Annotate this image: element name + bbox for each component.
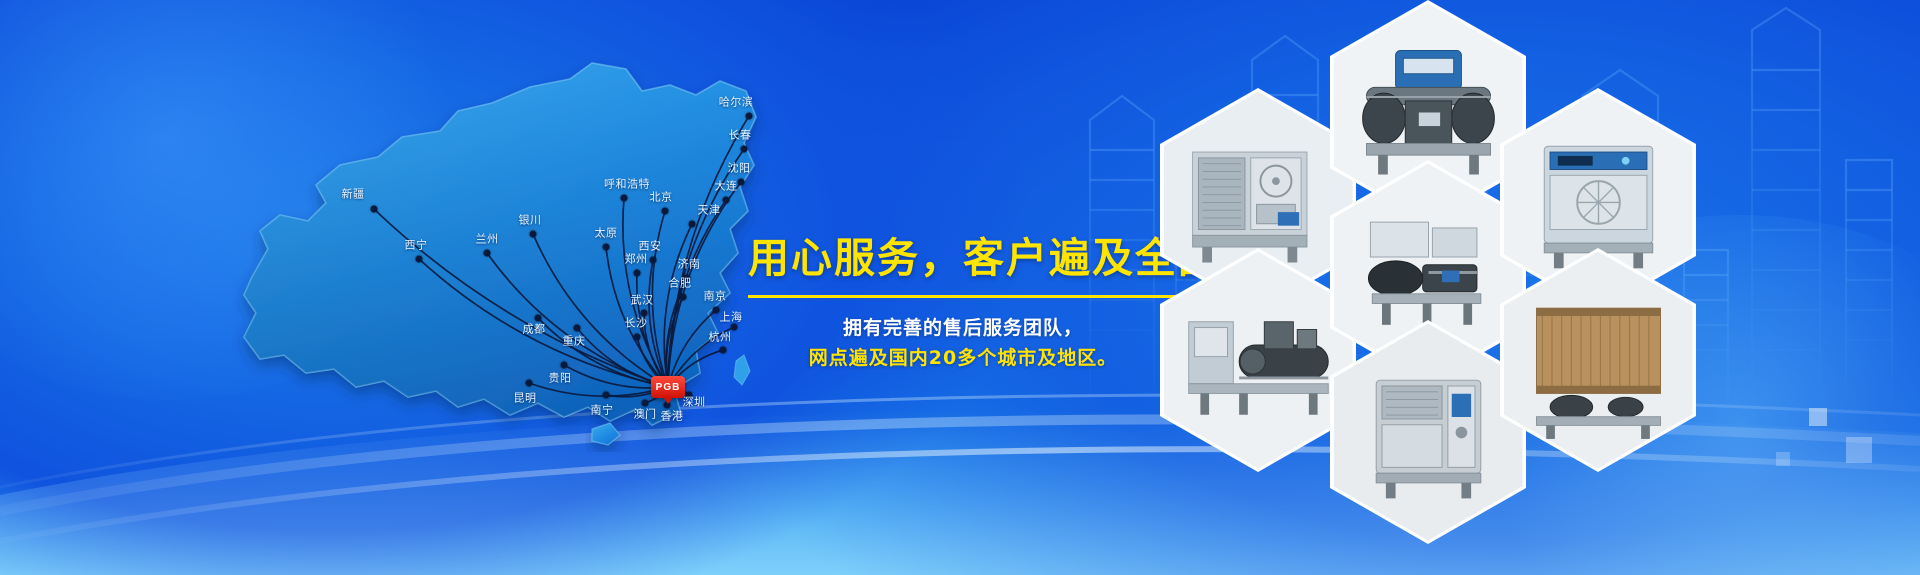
map-city-label: 银川 [519,215,542,226]
map-city-dot[interactable] [642,400,649,407]
china-distribution-map: 新疆哈尔滨长春沈阳呼和浩特北京天津大连银川兰州太原西宁郑州西安济南合肥南京上海武… [140,25,760,455]
map-city-label: 长沙 [625,318,648,329]
map-city-dot[interactable] [371,206,378,213]
map-city-dot[interactable] [720,347,727,354]
decorative-square-2 [1846,437,1872,463]
banner-subtext-line-2: 网点遍及国内20多个城市及地区。 [748,344,1178,373]
map-city-label: 郑州 [625,254,648,265]
map-city-dot[interactable] [634,270,641,277]
map-city-label: 呼和浩特 [604,179,650,190]
map-city-label: 武汉 [631,295,654,306]
map-city-dot[interactable] [650,257,657,264]
banner-text-block: 用心服务，客户遍及全国 拥有完善的售后服务团队， 网点遍及国内20多个城市及地区… [748,236,1178,373]
headline-divider-rule [748,295,1178,298]
map-city-label: 长春 [729,130,752,141]
map-city-label: 澳门 [634,409,657,420]
hub-marker-pgb[interactable]: PGB [651,376,685,398]
product-image-screw-compressor-unit [1164,252,1353,469]
map-city-label: 新疆 [342,189,365,200]
map-city-label: 太原 [595,228,618,239]
map-city-label: 南宁 [591,405,614,416]
product-hexagon-grid [1160,0,1720,545]
map-city-dot[interactable] [621,195,628,202]
map-city-dot[interactable] [535,315,542,322]
map-city-label: 上海 [720,312,743,323]
map-city-dot[interactable] [713,307,720,314]
map-city-label: 北京 [650,192,673,203]
map-city-label: 杭州 [709,332,732,343]
map-city-dot[interactable] [530,231,537,238]
map-city-dot[interactable] [662,208,669,215]
map-city-label: 西安 [639,241,662,252]
decorative-square-1 [1809,408,1827,426]
map-city-label: 沈阳 [728,163,751,174]
map-city-label: 济南 [678,259,701,270]
map-city-label: 天津 [698,205,721,216]
map-city-dot[interactable] [741,146,748,153]
map-city-dot[interactable] [603,244,610,251]
map-city-label: 哈尔滨 [719,97,754,108]
product-hex-cabinet-water-chiller[interactable] [1330,320,1526,544]
map-city-dot[interactable] [526,380,533,387]
map-city-dot[interactable] [746,113,753,120]
map-city-dot[interactable] [723,197,730,204]
map-city-label: 成都 [523,324,546,335]
map-city-label: 合肥 [669,278,692,289]
map-city-label: 兰州 [476,234,499,245]
banner-subtext-line-1: 拥有完善的售后服务团队， [748,314,1178,343]
map-city-dot[interactable] [738,179,745,186]
map-city-label: 深圳 [683,397,706,408]
hub-marker-label: PGB [656,382,681,393]
map-city-dot[interactable] [680,294,687,301]
map-city-dot[interactable] [603,392,610,399]
map-city-dot[interactable] [561,362,568,369]
map-city-label: 重庆 [563,336,586,347]
map-city-dot[interactable] [416,256,423,263]
decorative-square-3 [1776,452,1790,466]
map-city-label: 香港 [661,411,684,422]
map-city-dot[interactable] [484,250,491,257]
product-image-cabinet-water-chiller [1334,324,1523,541]
map-city-dot[interactable] [689,221,696,228]
product-hex-screw-compressor-unit[interactable] [1160,248,1356,472]
map-city-label: 昆明 [514,393,537,404]
map-city-dot[interactable] [731,324,738,331]
map-city-dot[interactable] [641,310,648,317]
map-city-label: 南京 [704,291,727,302]
product-image-finned-coil-chiller [1504,252,1693,469]
map-city-dot[interactable] [574,325,581,332]
map-city-label: 西宁 [405,240,428,251]
map-city-dot[interactable] [634,334,641,341]
banner-headline: 用心服务，客户遍及全国 [748,236,1178,281]
product-hex-finned-coil-chiller[interactable] [1500,248,1696,472]
map-city-label: 大连 [715,181,738,192]
map-city-label: 贵阳 [549,373,572,384]
promotional-banner: 新疆哈尔滨长春沈阳呼和浩特北京天津大连银川兰州太原西宁郑州西安济南合肥南京上海武… [0,0,1920,575]
